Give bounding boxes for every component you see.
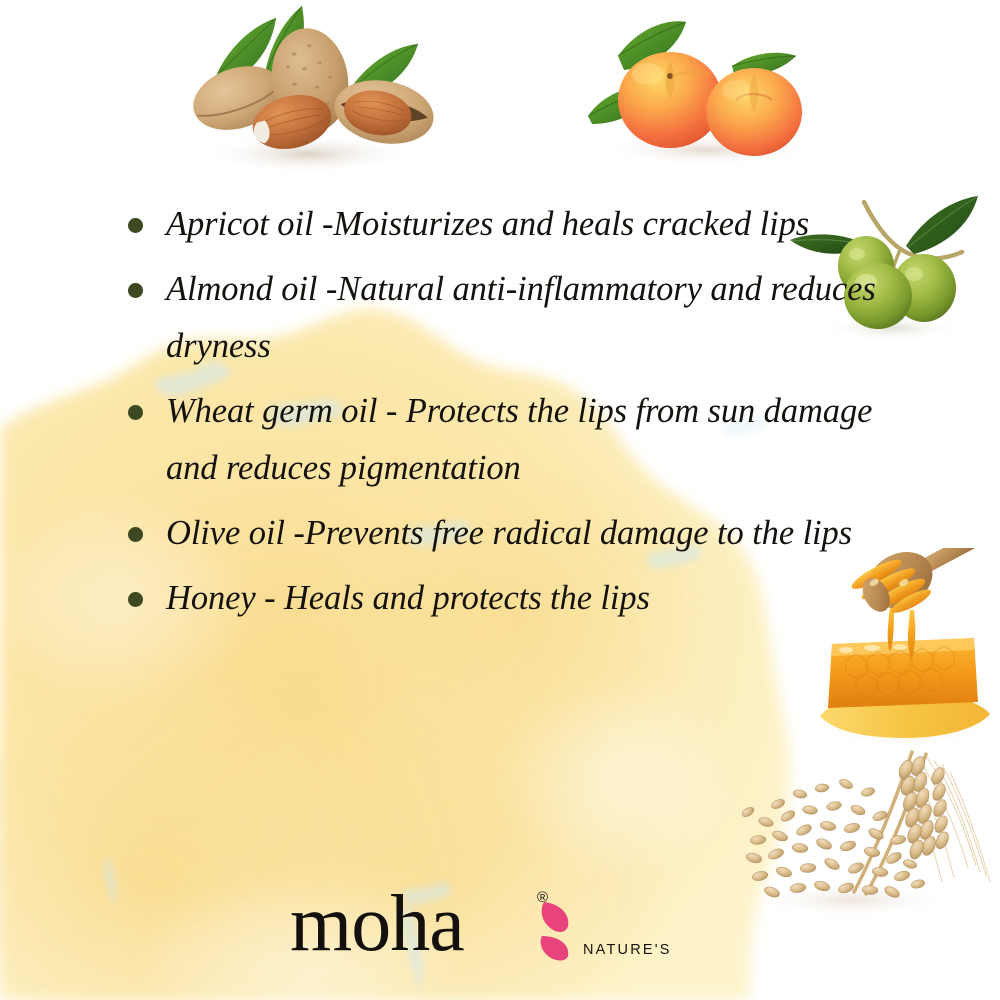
wheat-image <box>742 742 1000 922</box>
benefit-text: Wheat germ oil - Protects the lips from … <box>166 383 876 497</box>
bullet-dot-icon <box>128 218 143 233</box>
tagline-line-1: NATURE'S <box>583 940 672 962</box>
logo-mark: moha ® <box>290 884 565 972</box>
poster-canvas: Apricot oil -Moisturizes and heals crack… <box>0 0 1000 1000</box>
bullet-dot-icon <box>128 527 143 542</box>
benefit-text: Olive oil -Prevents free radical damage … <box>166 505 876 562</box>
brand-wordmark: moha <box>290 880 464 968</box>
apricots-image <box>566 4 836 170</box>
benefits-list: Apricot oil -Moisturizes and heals crack… <box>116 196 876 627</box>
benefit-item-almond-oil: Almond oil -Natural anti-inflammatory an… <box>116 261 876 375</box>
bullet-dot-icon <box>128 405 143 420</box>
brand-tagline: NATURE'S PERFECT FORMULA <box>583 884 672 1000</box>
benefit-text: Honey - Heals and protects the lips <box>166 570 876 627</box>
benefit-text: Apricot oil -Moisturizes and heals crack… <box>166 196 876 253</box>
benefit-item-apricot-oil: Apricot oil -Moisturizes and heals crack… <box>116 196 876 253</box>
bullet-dot-icon <box>128 592 143 607</box>
bullet-dot-icon <box>128 283 143 298</box>
benefit-item-wheat-germ-oil: Wheat germ oil - Protects the lips from … <box>116 383 876 497</box>
almonds-image <box>172 2 444 180</box>
benefit-item-olive-oil: Olive oil -Prevents free radical damage … <box>116 505 876 562</box>
benefit-item-honey: Honey - Heals and protects the lips <box>116 570 876 627</box>
benefit-text: Almond oil -Natural anti-inflammatory an… <box>166 261 876 375</box>
brand-logo: moha ® NATURE'S PERFECT FORMULA <box>290 884 720 972</box>
pink-petals-icon <box>538 900 572 962</box>
